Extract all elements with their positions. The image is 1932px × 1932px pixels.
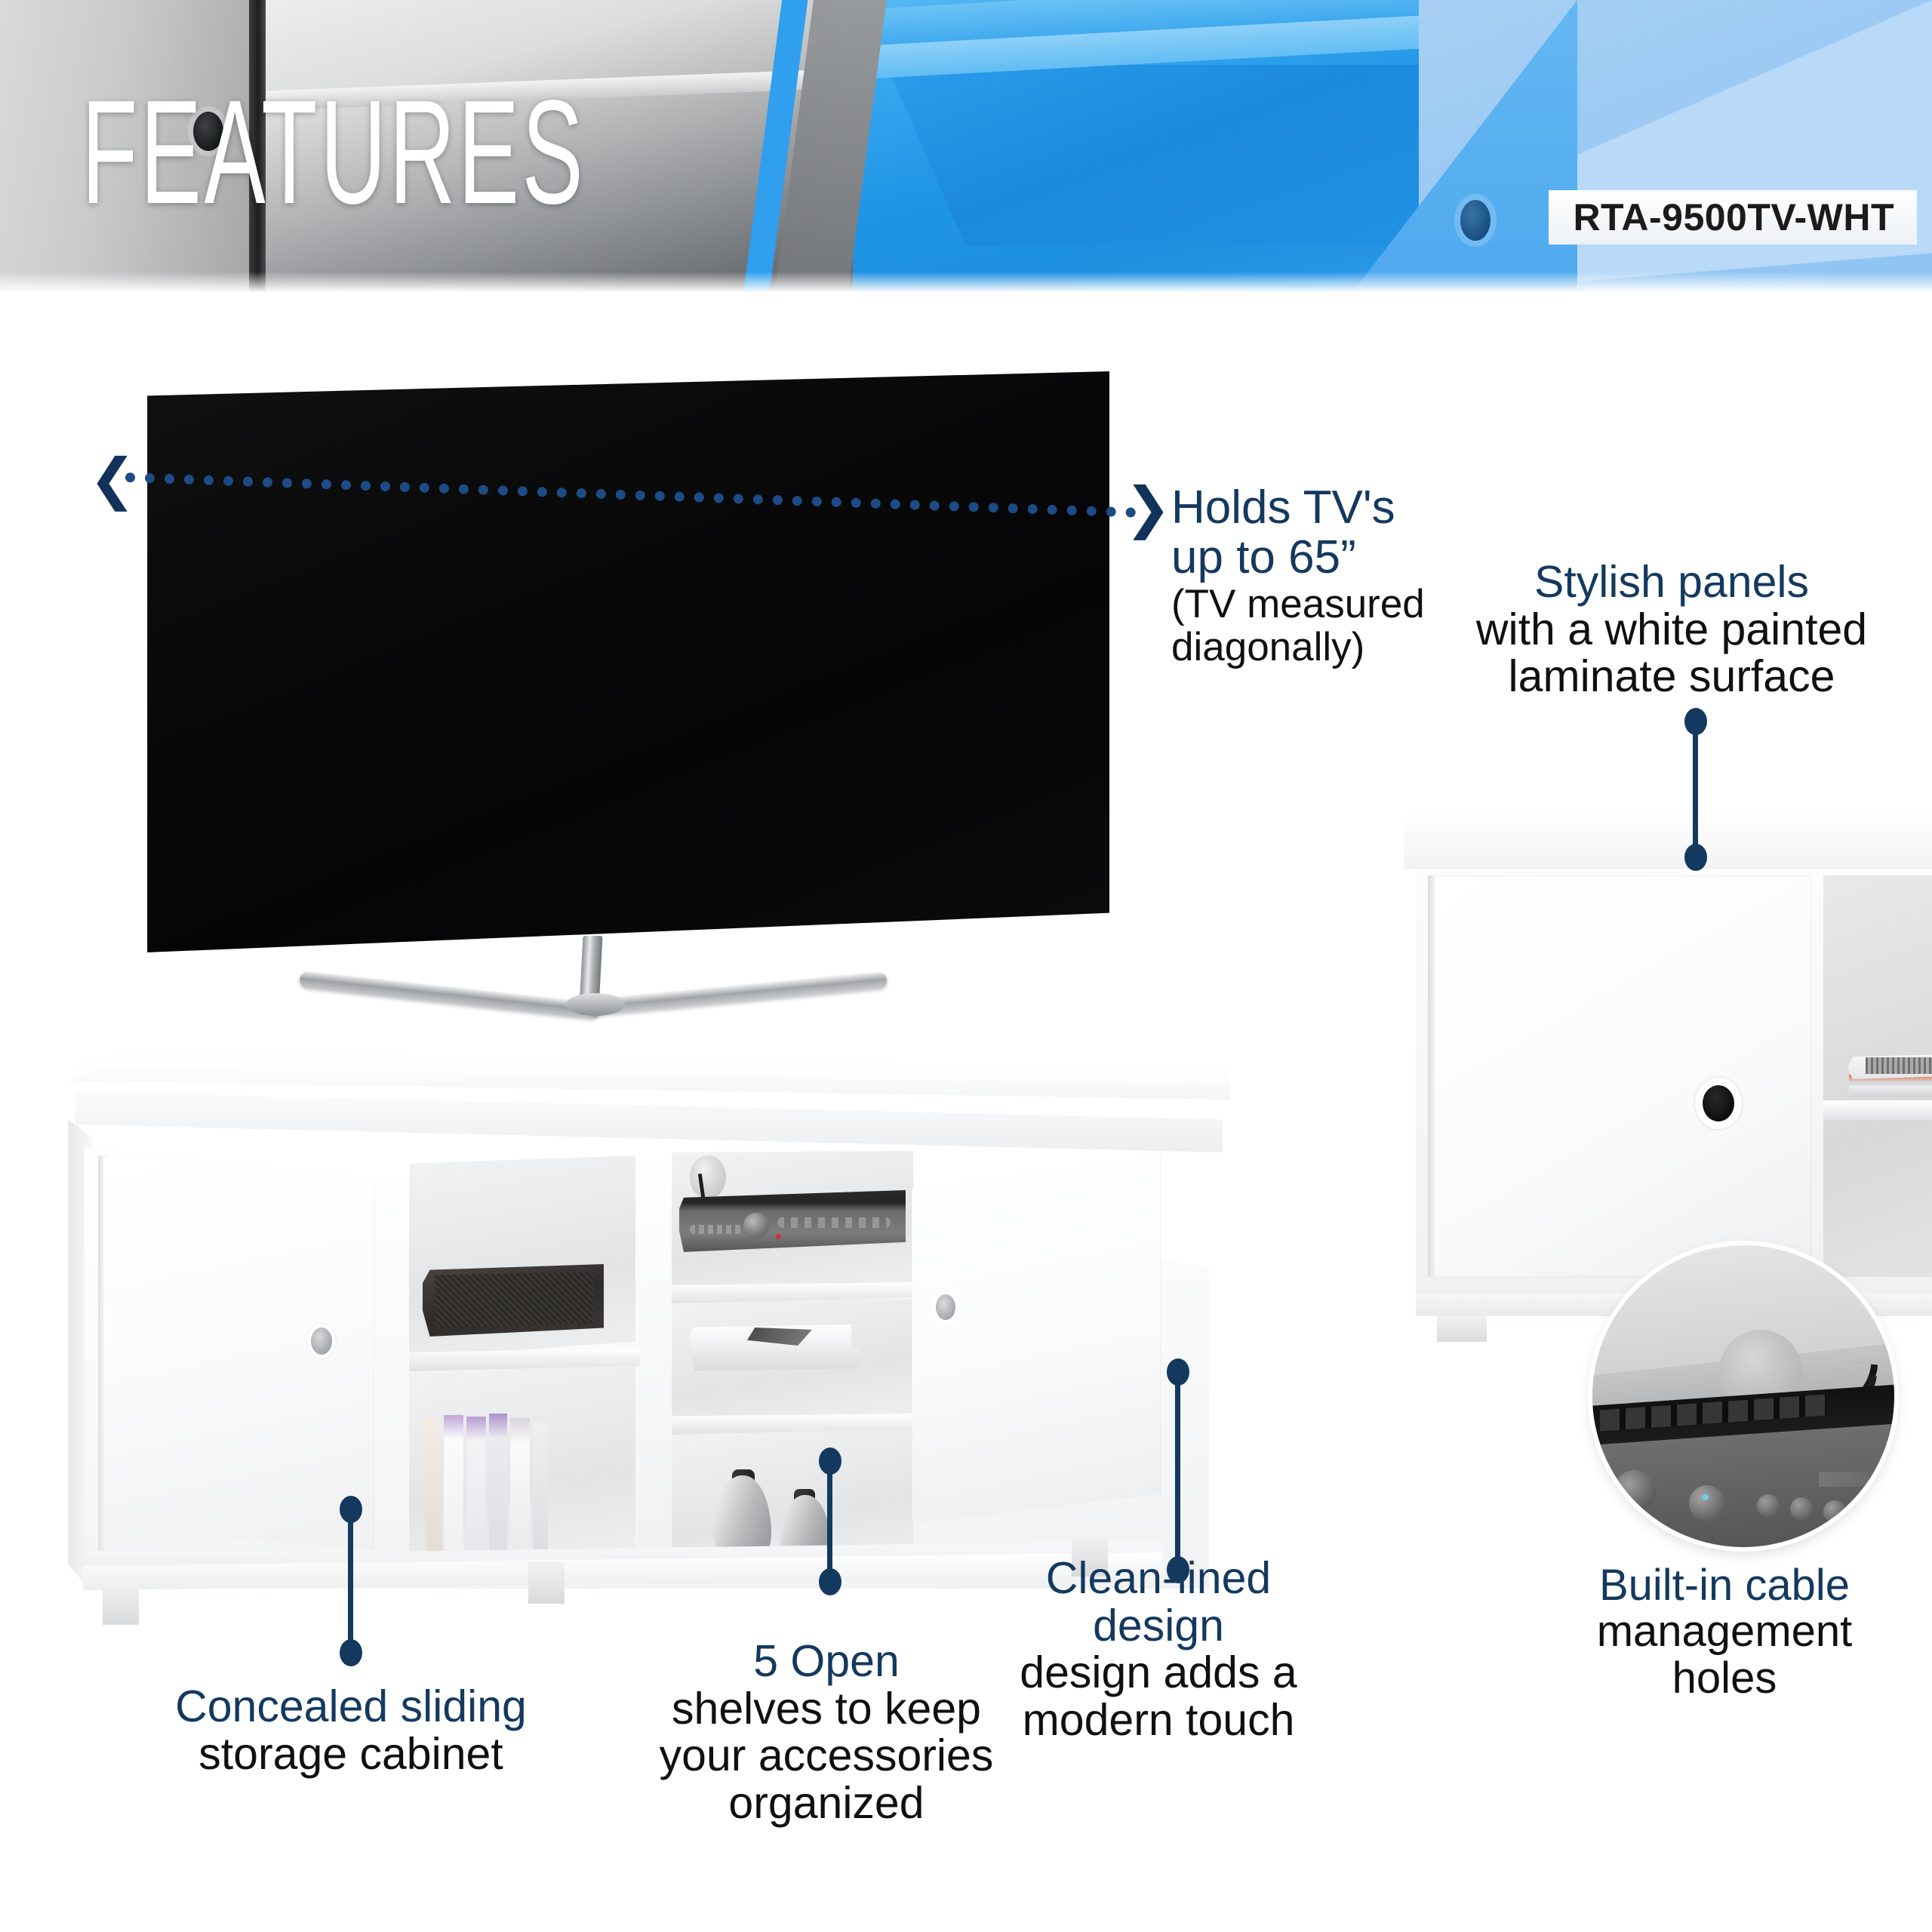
door-finger-hole-right [936,1294,955,1320]
leader-line-concealed-cabinet [348,1509,353,1653]
callout-body: (TV measured diagonally) [1171,583,1428,668]
leader-line-clean-lined [1175,1374,1180,1570]
magazine [1849,1085,1932,1097]
detail-stand-top [1404,812,1932,868]
banner-cable-hole-blue [1460,200,1491,241]
cable-hole-zoom-inset [1592,1245,1894,1547]
callout-headline: Holds TV's up to 65” [1171,483,1428,582]
magazine-cover-art [1866,1057,1932,1074]
stand-foot-center [528,1561,565,1604]
leader-dot [819,1568,841,1595]
header-banner: FEATURES RTA-9500TV-WHT [0,0,1932,294]
inset-device-badge [1819,1472,1876,1487]
callout-holds-tv: Holds TV's up to 65” (TV measured diagon… [1171,483,1428,669]
callout-open-shelves: 5 Open shelves to keep your accessories … [649,1638,1004,1826]
book-row [423,1407,566,1566]
sku-badge: RTA-9500TV-WHT [1549,190,1917,245]
callout-body: management holes [1555,1608,1894,1701]
book [533,1423,548,1566]
arrow-right-icon: ❯ [1124,480,1171,536]
book [422,1418,444,1567]
stand-sliding-door-right [912,1155,1161,1524]
receiver-power-led [776,1234,781,1239]
receiver-buttons-right [777,1217,891,1228]
leader-line-stylish-panels [1693,724,1698,860]
callout-headline: Stylish panels [1457,558,1887,606]
callout-body: design adds a modern touch [981,1649,1336,1743]
sku-text: RTA-9500TV-WHT [1573,195,1894,239]
tv-screen [143,371,1109,952]
callout-headline: Concealed sliding [151,1683,551,1730]
callout-body: storage cabinet [151,1730,551,1778]
detail-magazine-stack [1847,1054,1932,1102]
stand-foot-left [103,1583,139,1625]
callout-body: with a white painted laminate surface [1457,606,1887,700]
book [489,1414,507,1566]
stand-top-apron [75,1089,1223,1152]
callout-headline: Built-in cable [1555,1562,1894,1608]
stand-sliding-door-left [103,1157,374,1549]
tv-stand-hub [566,993,625,1016]
measure-dotted-line [125,472,1137,518]
leader-line-open-shelves [827,1460,832,1581]
banner-blue-interior [887,65,1449,246]
detail-stand-foot [1437,1316,1487,1342]
inset-device-button [1757,1494,1780,1517]
callout-stylish-panels: Stylish panels with a white painted lami… [1457,558,1887,700]
banner-bottom-fade [0,272,1932,294]
callout-clean-lined: Clean-lined design design adds a modern … [981,1555,1336,1743]
detail-sliding-door [1434,875,1811,1277]
cable-management-hole [1703,1085,1734,1121]
receiver-volume-knob [743,1213,769,1238]
inset-device-button [1857,1503,1879,1526]
magazine-bottom [691,1347,859,1371]
inset-device-button [1823,1500,1846,1523]
television [113,355,1162,1057]
callout-body: shelves to keep your accessories organiz… [649,1685,1004,1827]
book [510,1418,530,1566]
book [444,1415,463,1566]
callout-headline: 5 Open [649,1638,1004,1685]
tv-diagonal-measure-line: ❮ ❯ [89,462,1168,515]
tv-stand-foot-right [587,971,888,1016]
inset-device-knob-center [1689,1485,1725,1521]
door-finger-hole-left [311,1327,332,1355]
leader-dot [340,1639,362,1666]
callout-concealed-cabinet: Concealed sliding storage cabinet [151,1683,551,1777]
tv-stand-foot-left [299,971,601,1020]
receiver-buttons-left [690,1225,743,1234]
book [466,1417,486,1566]
leader-dot [1684,844,1707,871]
callout-headline: Clean-lined design [981,1555,1336,1649]
inset-device-knob-left [1614,1470,1656,1512]
magazine-stack [688,1324,862,1373]
callout-cable-management: Built-in cable management holes [1555,1562,1894,1701]
detail-shelf-board [1823,1100,1932,1120]
soundbar-grille [432,1272,593,1327]
page-title: FEATURES [82,89,586,217]
inset-device-button [1790,1497,1813,1520]
stand-vertical-divider [638,1149,672,1572]
